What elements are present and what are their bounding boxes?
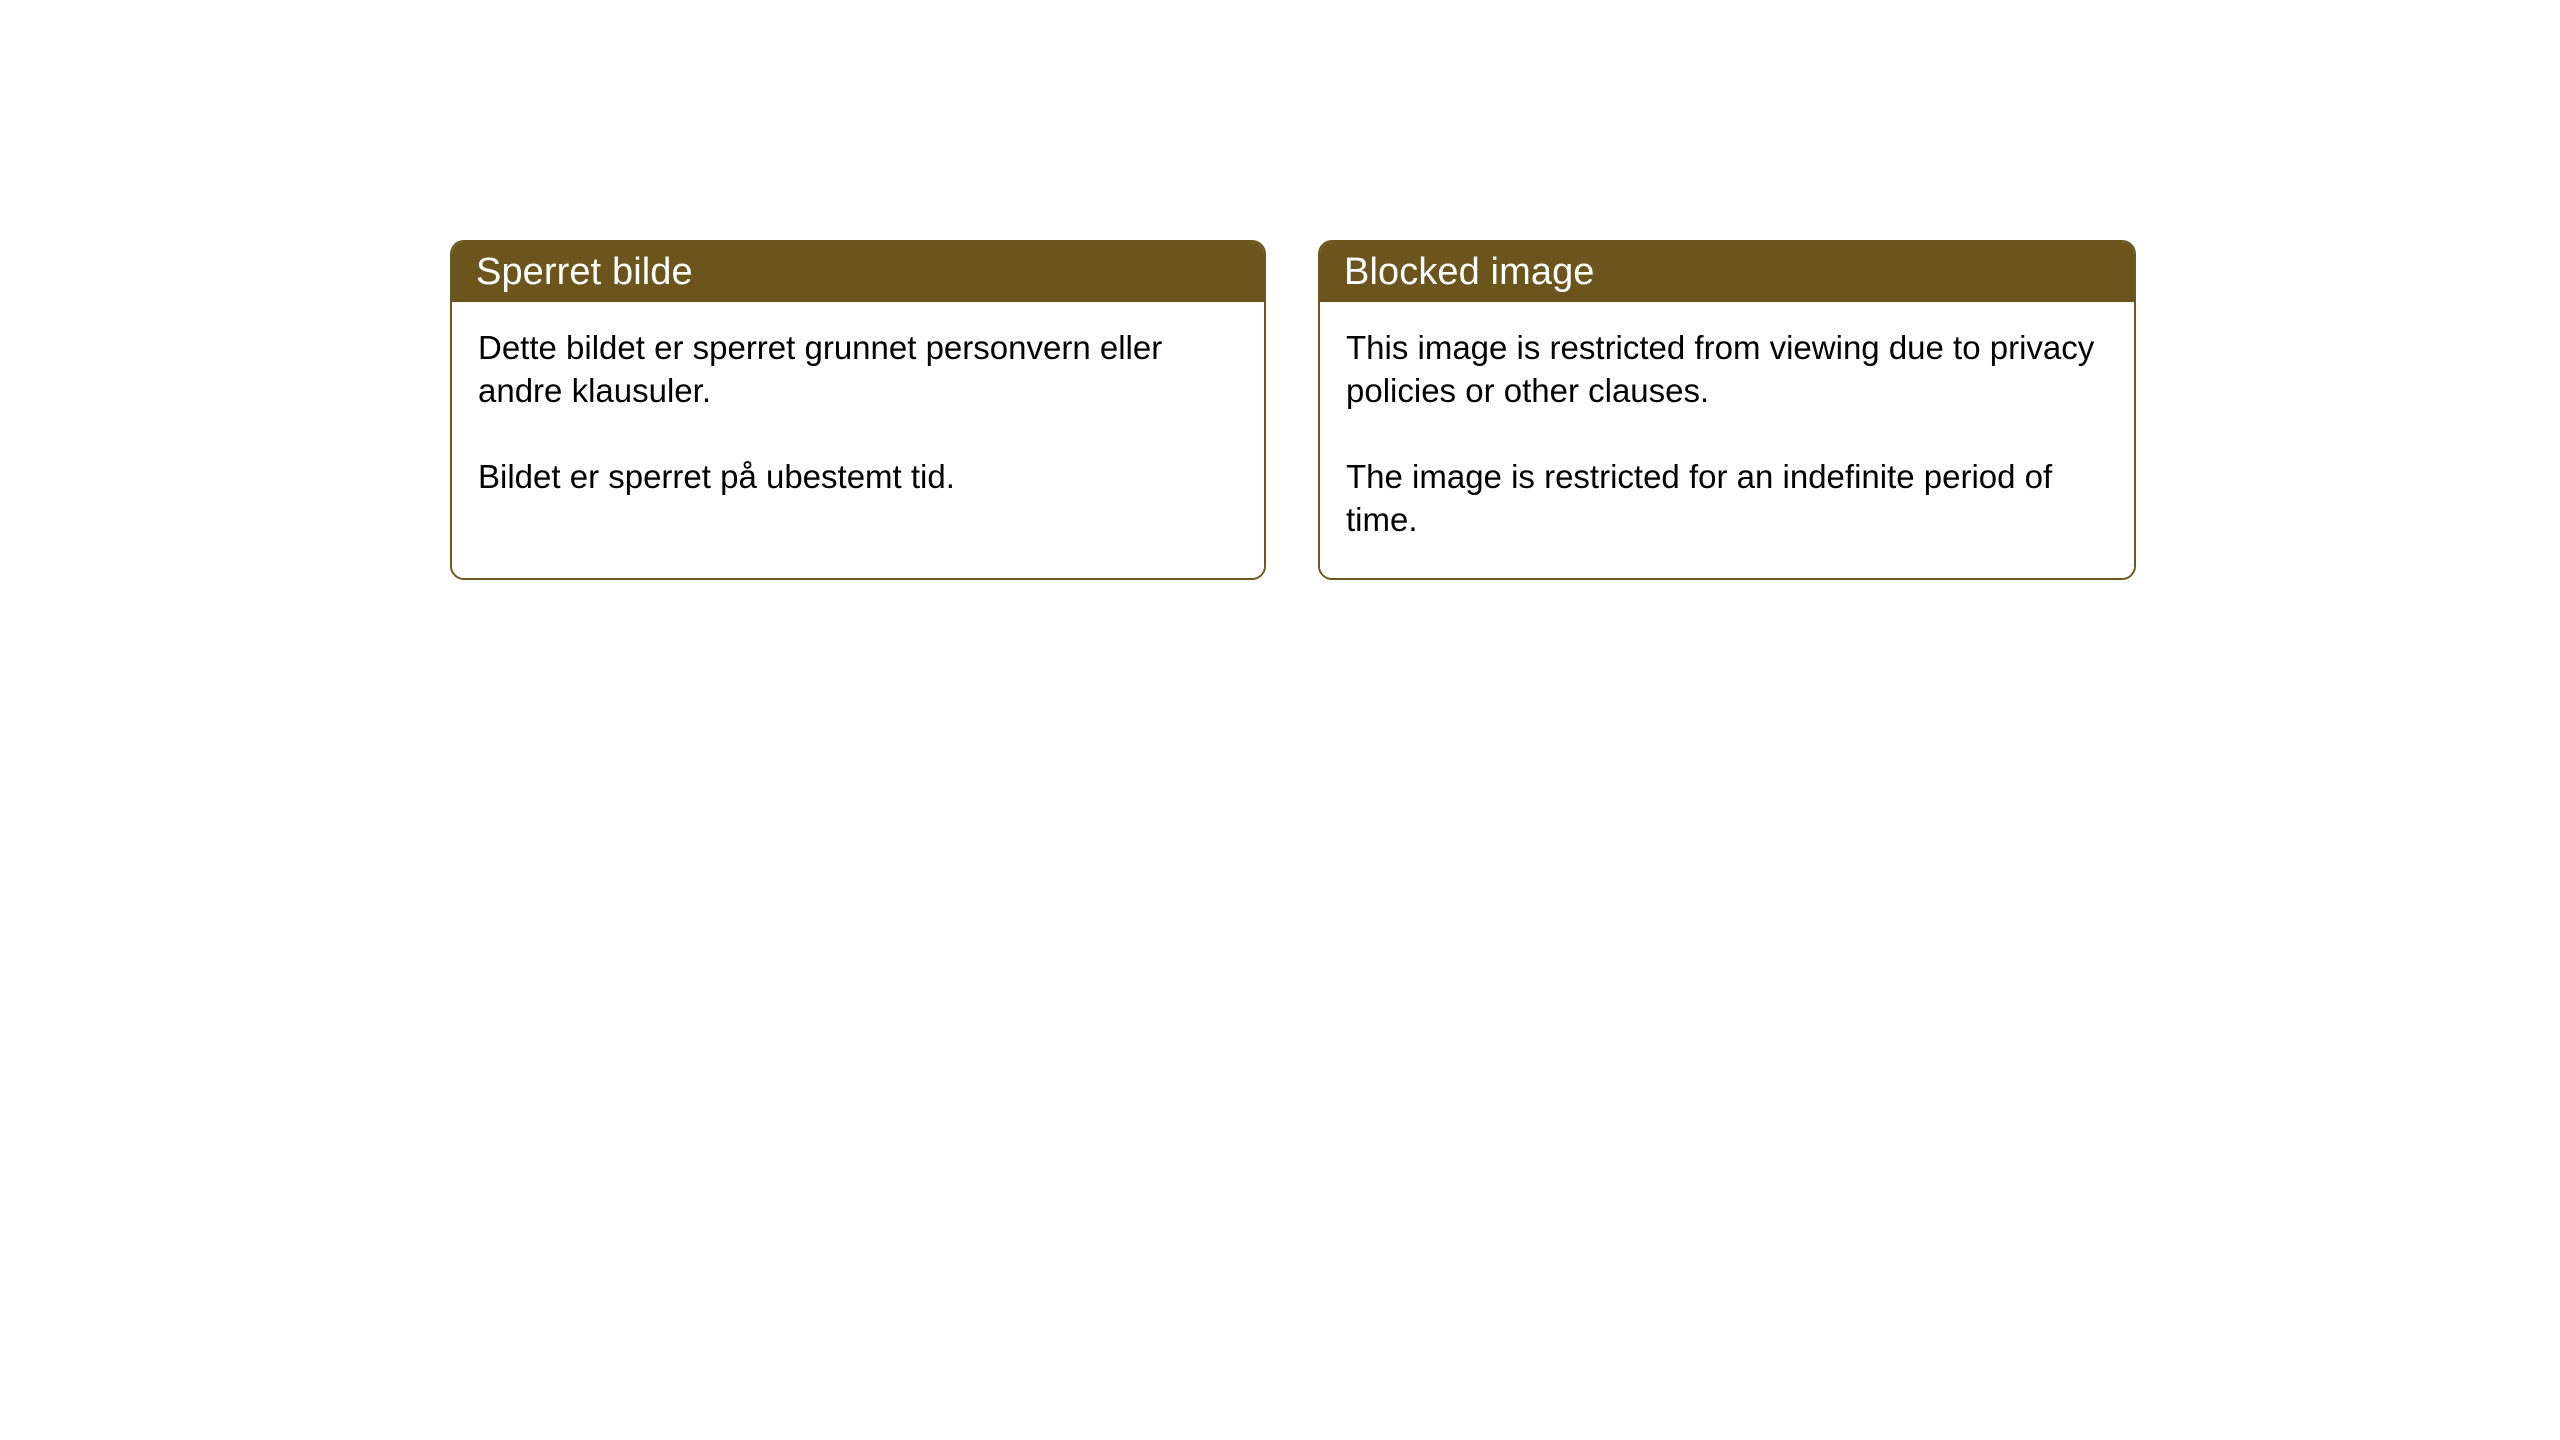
- paragraph-spacer: [1346, 412, 2106, 455]
- blocked-image-notice-norwegian: Sperret bilde Dette bildet er sperret gr…: [450, 240, 1266, 580]
- blocked-image-notice-english: Blocked image This image is restricted f…: [1318, 240, 2136, 580]
- notice-body-norwegian: Dette bildet er sperret grunnet personve…: [452, 302, 1264, 578]
- notice-body-english: This image is restricted from viewing du…: [1320, 302, 2134, 578]
- page-canvas: Sperret bilde Dette bildet er sperret gr…: [0, 0, 2560, 1440]
- notice-paragraph-reason-english: This image is restricted from viewing du…: [1346, 326, 2106, 412]
- notice-paragraph-duration-norwegian: Bildet er sperret på ubestemt tid.: [478, 455, 1236, 498]
- notice-title-english: Blocked image: [1344, 253, 1595, 291]
- notice-header-english: Blocked image: [1320, 242, 2134, 302]
- paragraph-spacer: [478, 412, 1236, 455]
- notice-title-norwegian: Sperret bilde: [476, 253, 693, 291]
- notice-header-norwegian: Sperret bilde: [452, 242, 1264, 302]
- notice-paragraph-reason-norwegian: Dette bildet er sperret grunnet personve…: [478, 326, 1236, 412]
- notice-paragraph-duration-english: The image is restricted for an indefinit…: [1346, 455, 2106, 541]
